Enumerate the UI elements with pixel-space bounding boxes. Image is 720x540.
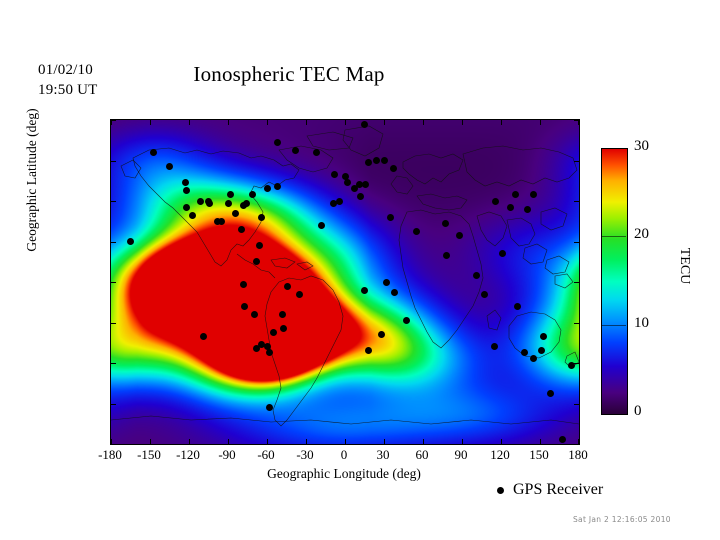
x-axis-tick-mark <box>306 120 307 125</box>
x-axis-tick-mark <box>384 120 385 125</box>
gps-receiver-marker <box>183 187 190 194</box>
gps-receiver-marker <box>331 171 338 178</box>
gps-receiver-marker <box>270 329 277 336</box>
colorbar-axis-label: TECU <box>676 206 692 326</box>
gps-receiver-marker <box>256 242 263 249</box>
gps-receiver-marker <box>512 191 519 198</box>
gps-receiver-marker <box>530 191 537 198</box>
y-axis-label: Geographic Latitude (deg) <box>24 0 40 380</box>
y-axis-tick-mark <box>111 201 116 202</box>
y-axis-tick-mark <box>111 161 116 162</box>
gps-receiver-marker <box>280 325 287 332</box>
x-axis-tick-mark <box>540 439 541 444</box>
gps-receiver-marker <box>183 204 190 211</box>
colorbar-tick-mark <box>601 236 626 237</box>
gps-receiver-marker <box>357 193 364 200</box>
gps-receiver-marker <box>491 343 498 350</box>
colorbar-tick-mark <box>601 325 626 326</box>
y-axis-tick-mark <box>574 282 579 283</box>
y-axis-tick-mark <box>574 404 579 405</box>
gps-receiver-marker <box>361 121 368 128</box>
gps-receiver-layer <box>111 120 579 444</box>
gps-receiver-marker <box>383 279 390 286</box>
gps-receiver-marker <box>274 139 281 146</box>
gps-receiver-marker <box>473 272 480 279</box>
x-axis-tick-mark <box>462 439 463 444</box>
gps-receiver-marker <box>492 198 499 205</box>
gps-receiver-marker <box>241 303 248 310</box>
gps-receiver-marker <box>499 250 506 257</box>
page-title: Ionospheric TEC Map <box>0 62 578 87</box>
gps-receiver-marker <box>243 200 250 207</box>
gps-receiver-marker <box>258 214 265 221</box>
gps-receiver-marker <box>127 238 134 245</box>
gps-receiver-marker <box>336 198 343 205</box>
x-axis-tick-mark <box>462 120 463 125</box>
colorbar-tick-label: 30 <box>634 138 649 155</box>
y-axis-tick-mark <box>111 363 116 364</box>
gps-receiver-marker <box>253 258 260 265</box>
gps-receiver-marker <box>521 349 528 356</box>
gps-receiver-marker <box>166 163 173 170</box>
gps-receiver-marker <box>206 200 213 207</box>
gps-receiver-marker <box>481 291 488 298</box>
x-axis-tick-mark <box>501 439 502 444</box>
x-axis-tick-mark <box>150 439 151 444</box>
gps-receiver-marker <box>318 222 325 229</box>
gps-receiver-marker <box>530 355 537 362</box>
x-axis-tick-mark <box>384 439 385 444</box>
gps-receiver-marker <box>292 147 299 154</box>
gps-receiver-marker <box>442 220 449 227</box>
colorbar <box>601 148 628 415</box>
gps-receiver-marker <box>238 226 245 233</box>
colorbar-tick-label: 0 <box>634 403 642 420</box>
gps-receiver-marker <box>240 281 247 288</box>
gps-receiver-marker <box>524 206 531 213</box>
y-axis-tick-mark <box>111 242 116 243</box>
x-axis-tick-mark <box>111 120 112 125</box>
x-axis-tick-mark <box>578 439 579 444</box>
gps-receiver-marker <box>365 159 372 166</box>
render-timestamp: Sat Jan 2 12:16:05 2010 <box>573 515 671 524</box>
gps-receiver-marker <box>540 333 547 340</box>
gps-receiver-marker-icon <box>497 487 504 494</box>
gps-receiver-marker <box>443 252 450 259</box>
gps-receiver-marker <box>200 333 207 340</box>
x-axis-tick-mark <box>189 120 190 125</box>
gps-receiver-marker <box>391 289 398 296</box>
x-axis-tick-mark <box>189 439 190 444</box>
x-axis-tick-mark <box>345 120 346 125</box>
colorbar-tick-label: 10 <box>634 315 649 332</box>
gps-receiver-marker <box>514 303 521 310</box>
gps-receiver-marker <box>381 157 388 164</box>
gps-receiver-marker <box>373 157 380 164</box>
x-axis-tick-mark <box>540 120 541 125</box>
x-axis-tick-mark <box>228 439 229 444</box>
gps-receiver-marker <box>274 183 281 190</box>
gps-receiver-marker <box>189 212 196 219</box>
x-axis-tick-mark <box>423 439 424 444</box>
gps-receiver-marker <box>264 185 271 192</box>
x-axis-tick-mark <box>228 120 229 125</box>
y-axis-tick-mark <box>111 323 116 324</box>
gps-receiver-marker <box>249 191 256 198</box>
x-axis-tick-mark <box>345 439 346 444</box>
gps-receiver-marker <box>362 181 369 188</box>
x-axis-tick-mark <box>423 120 424 125</box>
gps-receiver-marker <box>507 204 514 211</box>
gps-receiver-marker <box>313 149 320 156</box>
y-axis-tick-mark <box>574 444 579 445</box>
x-axis-tick-mark <box>501 120 502 125</box>
gps-receiver-marker <box>279 311 286 318</box>
gps-receiver-marker <box>150 149 157 156</box>
y-axis-tick-mark <box>111 444 116 445</box>
gps-receiver-marker <box>403 317 410 324</box>
x-axis-tick-mark <box>578 120 579 125</box>
gps-receiver-marker <box>413 228 420 235</box>
y-axis-tick-mark <box>574 363 579 364</box>
x-axis-tick-mark <box>267 120 268 125</box>
gps-receiver-marker <box>365 347 372 354</box>
gps-receiver-marker <box>390 165 397 172</box>
gps-receiver-marker <box>266 349 273 356</box>
y-axis-tick-mark <box>574 242 579 243</box>
map-plot-area <box>110 119 580 445</box>
gps-receiver-marker <box>387 214 394 221</box>
x-axis-tick-mark <box>111 439 112 444</box>
x-axis-tick-label: 180 <box>548 447 608 463</box>
colorbar-tick-label: 20 <box>634 226 649 243</box>
gps-receiver-marker <box>284 283 291 290</box>
y-axis-tick-mark <box>574 323 579 324</box>
legend-label: GPS Receiver <box>513 481 603 499</box>
legend: GPS Receiver <box>497 481 603 499</box>
gps-receiver-marker <box>296 291 303 298</box>
x-axis-tick-mark <box>267 439 268 444</box>
y-axis-tick-mark <box>574 201 579 202</box>
tec-map-figure: 01/02/10 19:50 UT Ionospheric TEC Map <box>0 0 720 540</box>
gps-receiver-marker <box>538 347 545 354</box>
gps-receiver-marker <box>344 179 351 186</box>
gps-receiver-marker <box>182 179 189 186</box>
x-axis-tick-mark <box>150 120 151 125</box>
y-axis-tick-mark <box>574 161 579 162</box>
gps-receiver-marker <box>227 191 234 198</box>
gps-receiver-marker <box>232 210 239 217</box>
gps-receiver-marker <box>559 436 566 443</box>
gps-receiver-marker <box>547 390 554 397</box>
y-axis-tick-mark <box>111 404 116 405</box>
gps-receiver-marker <box>225 200 232 207</box>
gps-receiver-marker <box>456 232 463 239</box>
gps-receiver-marker <box>197 198 204 205</box>
x-axis-label: Geographic Longitude (deg) <box>110 466 578 482</box>
gps-receiver-marker <box>361 287 368 294</box>
gps-receiver-marker <box>342 173 349 180</box>
y-axis-tick-mark <box>111 282 116 283</box>
x-axis-tick-mark <box>306 439 307 444</box>
gps-receiver-marker <box>251 311 258 318</box>
gps-receiver-marker <box>266 404 273 411</box>
gps-receiver-marker <box>378 331 385 338</box>
gps-receiver-marker <box>218 218 225 225</box>
